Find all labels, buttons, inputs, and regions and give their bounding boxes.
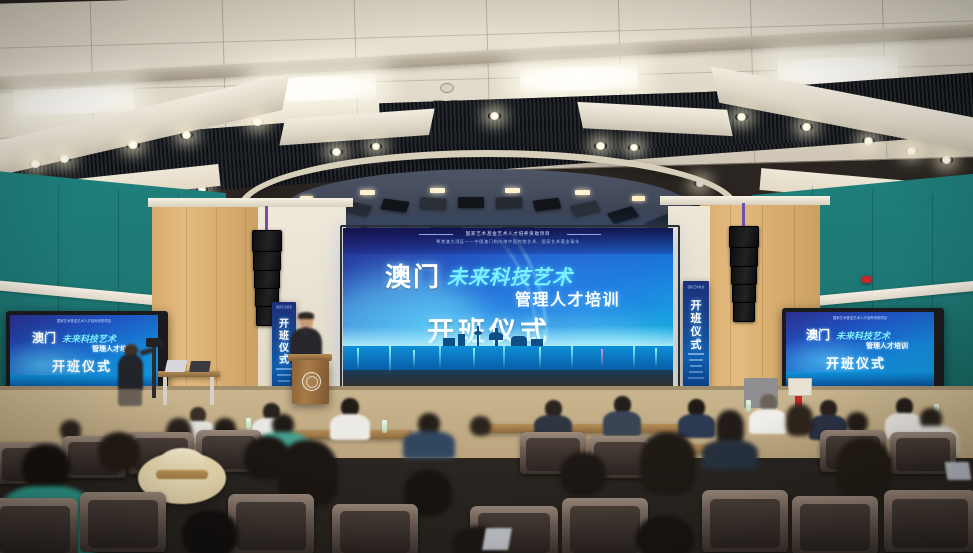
stage-edge [0, 386, 973, 390]
tripod-column [152, 342, 156, 398]
straw-hat-band [156, 470, 208, 479]
auditorium-chair [80, 492, 166, 552]
auditorium-chair [702, 490, 788, 552]
right-monitor-sub: 管理人才培训 [866, 341, 908, 351]
downlight [940, 156, 953, 164]
auditorium-chair [562, 498, 648, 553]
microphone-icon [303, 327, 308, 335]
audience-body [603, 411, 641, 436]
ceiling-panel-light [520, 64, 639, 94]
laptop-icon [945, 462, 972, 480]
cornice-right [660, 196, 830, 205]
main-led-screen: 国家艺术基金艺术人才培养资助项目 粤港澳大湾区——中国澳门和内地中国传统艺术、国… [343, 228, 673, 388]
ellipse-light-strip [575, 190, 590, 195]
audience-body [330, 414, 370, 440]
led-title-macau: 澳门 [385, 257, 441, 294]
ceiling-fin [496, 196, 523, 208]
camera-operator-body [118, 355, 143, 391]
downlight [905, 147, 918, 155]
auditorium-chair [228, 494, 314, 553]
speaker-suspension-rod-left [265, 206, 268, 232]
audience-body [749, 409, 787, 434]
led-city-glow [343, 326, 673, 348]
led-city-dome [489, 332, 503, 340]
audience-body [403, 431, 455, 459]
auditorium-chair [332, 504, 418, 553]
smoke-detector-icon [440, 83, 454, 93]
led-header-line1: 国家艺术基金艺术人才培养资助项目 [343, 231, 673, 237]
audience-head [636, 516, 694, 553]
right-line-array-speaker [729, 226, 757, 322]
led-header-line2: 粤港澳大湾区——中国澳门和内地中国传统艺术、国家艺术基金青年 [343, 239, 673, 245]
ellipse-light-strip [632, 196, 645, 201]
laptop-icon [165, 360, 188, 372]
left-monitor-macau: 澳门 [32, 329, 56, 346]
rollup-banner-right: 国家艺术基金 开 班 仪 式 [683, 281, 709, 387]
ellipse-light-strip [430, 188, 445, 193]
audience-desk [486, 424, 686, 433]
video-camera-icon [146, 338, 163, 347]
led-title-sub: 管理人才培训 [515, 286, 620, 310]
audience-head [22, 444, 70, 490]
auditorium-chair [884, 490, 973, 552]
right-monitor-macau: 澳门 [806, 326, 830, 343]
audience-body [702, 440, 758, 470]
downlight [180, 131, 193, 139]
downlight [488, 112, 501, 120]
table-leg [210, 377, 214, 405]
downlight [29, 160, 42, 168]
audience-head [716, 410, 744, 444]
downlight [126, 141, 140, 149]
banner-right-sub: 国家艺术基金 [683, 285, 709, 289]
downlight [594, 142, 607, 150]
audience-body [678, 414, 715, 438]
podium-emblem [302, 372, 321, 391]
water-bottle [382, 420, 387, 433]
audience-head [786, 404, 813, 436]
ellipse-light-strip [505, 188, 520, 193]
downlight [370, 143, 382, 150]
left-monitor-event: 开班仪式 [52, 356, 112, 375]
cornice-left [148, 198, 353, 207]
right-monitor-header: 国家艺术基金艺术人才培养资助项目 [786, 315, 934, 320]
camera-operator-legs [118, 389, 142, 406]
fire-alarm-icon [862, 276, 871, 283]
downlight [735, 113, 748, 121]
audience-head [640, 432, 696, 494]
auditorium-chair [0, 498, 78, 553]
banner-right-l4: 式 [683, 336, 709, 352]
laptop-icon [189, 361, 211, 372]
water-bottle [746, 400, 751, 412]
left-monitor-header: 国家艺术基金艺术人才培养资助项目 [10, 318, 158, 323]
ceiling-fin [458, 197, 484, 208]
led-city-tower [477, 326, 479, 347]
downlight [862, 137, 875, 145]
audience-head [470, 416, 491, 436]
audience-head [98, 432, 140, 472]
laptop-icon [482, 528, 512, 550]
downlight [251, 118, 264, 126]
audience-head [836, 438, 892, 498]
table-leg [163, 377, 167, 405]
auditorium-photo: 国家艺术基金艺术人才培养资助项目 粤港澳大湾区——中国澳门和内地中国传统艺术、国… [0, 0, 973, 553]
right-monitor-event: 开班仪式 [826, 353, 886, 372]
audience-head [182, 510, 238, 553]
banner-left-sub: 国家艺术基金 [272, 305, 296, 309]
fire-equipment-sign [788, 378, 812, 396]
downlight [58, 155, 71, 163]
auditorium-chair [792, 496, 878, 553]
audience-head [560, 452, 606, 496]
downlight [800, 123, 813, 131]
ceiling-fin [420, 197, 447, 210]
water-bottle [246, 418, 251, 430]
ellipse-light-strip [360, 190, 375, 195]
speaker-suspension-rod-right [742, 203, 745, 228]
led-city-tower-ball [474, 331, 482, 335]
presenter-hair [298, 312, 314, 319]
